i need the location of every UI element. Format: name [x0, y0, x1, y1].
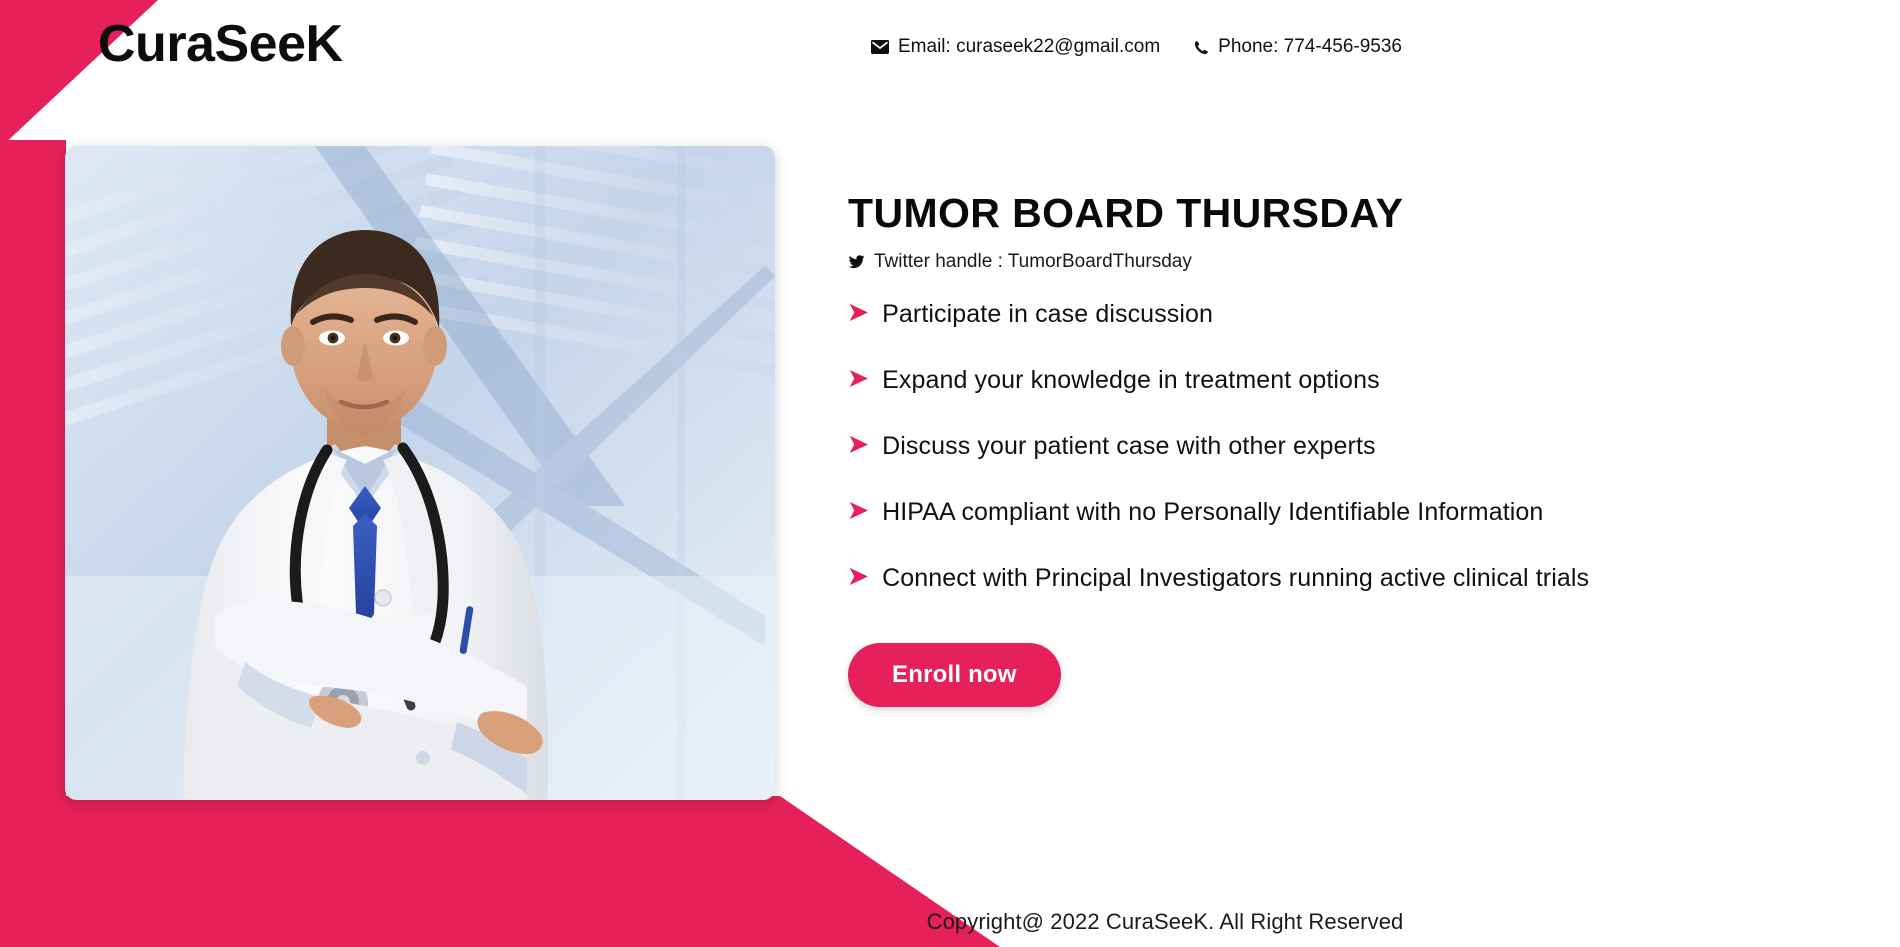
contact-phone-label: Phone: 774-456-9536 — [1218, 36, 1402, 58]
enroll-now-button[interactable]: Enroll now — [848, 643, 1061, 707]
list-item-label: Participate in case discussion — [882, 299, 1213, 329]
list-item: ➤ Connect with Principal Investigators r… — [848, 563, 1848, 593]
contact-email-label: Email: curaseek22@gmail.com — [898, 36, 1160, 58]
list-item-label: Discuss your patient case with other exp… — [882, 431, 1376, 461]
decorative-bottom-left-shape — [0, 796, 1000, 947]
arrow-right-icon: ➤ — [848, 499, 868, 523]
arrow-right-icon: ➤ — [848, 367, 868, 391]
site-header: CuraSeeK Email: curaseek22@gmail.com — [0, 0, 1900, 100]
list-item: ➤ Discuss your patient case with other e… — [848, 431, 1848, 461]
hero-content: TUMOR BOARD THURSDAY Twitter handle : Tu… — [848, 190, 1848, 707]
list-item-label: HIPAA compliant with no Personally Ident… — [882, 497, 1543, 527]
feature-list: ➤ Participate in case discussion ➤ Expan… — [848, 299, 1848, 593]
twitter-icon — [848, 255, 865, 269]
arrow-right-icon: ➤ — [848, 301, 868, 325]
list-item-label: Connect with Principal Investigators run… — [882, 563, 1589, 593]
doctor-photo — [65, 146, 775, 800]
twitter-handle-label: Twitter handle : TumorBoardThursday — [874, 251, 1192, 273]
twitter-handle[interactable]: Twitter handle : TumorBoardThursday — [848, 251, 1848, 273]
brand-logo[interactable]: CuraSeeK — [98, 16, 343, 73]
list-item: ➤ HIPAA compliant with no Personally Ide… — [848, 497, 1848, 527]
phone-icon — [1194, 40, 1209, 55]
list-item-label: Expand your knowledge in treatment optio… — [882, 365, 1380, 395]
contact-bar: Email: curaseek22@gmail.com Phone: 774-4… — [871, 36, 1402, 58]
copyright-text: Copyright@ 2022 CuraSeeK. All Right Rese… — [927, 909, 1404, 935]
decorative-left-band — [0, 140, 66, 820]
envelope-icon — [871, 40, 889, 54]
arrow-right-icon: ➤ — [848, 565, 868, 589]
page-root: CuraSeeK Email: curaseek22@gmail.com — [0, 0, 1900, 947]
arrow-right-icon: ➤ — [848, 433, 868, 457]
list-item: ➤ Expand your knowledge in treatment opt… — [848, 365, 1848, 395]
page-title: TUMOR BOARD THURSDAY — [848, 190, 1848, 237]
contact-phone[interactable]: Phone: 774-456-9536 — [1194, 36, 1402, 58]
list-item: ➤ Participate in case discussion — [848, 299, 1848, 329]
cta-container: Enroll now — [848, 643, 1848, 707]
contact-email[interactable]: Email: curaseek22@gmail.com — [871, 36, 1160, 58]
